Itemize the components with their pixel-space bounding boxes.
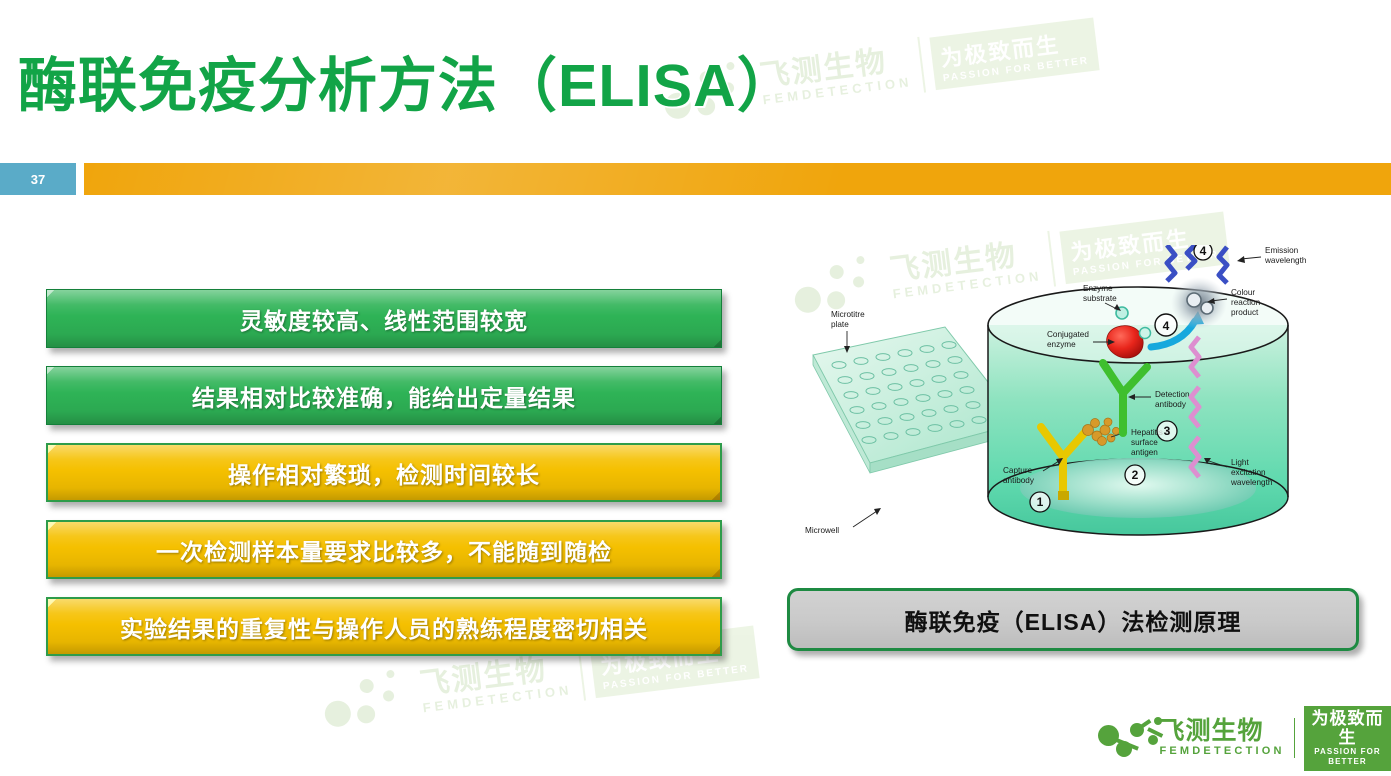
- watermark-tagline: 为极致而生 PASSION FOR BETTER: [929, 17, 1099, 90]
- label-light-excitation: Light: [1231, 458, 1249, 467]
- feature-box-4[interactable]: 一次检测样本量要求比较多，不能随到随检: [46, 520, 722, 579]
- feature-box-1[interactable]: 灵敏度较高、线性范围较宽: [46, 289, 722, 348]
- feature-label: 灵敏度较高、线性范围较宽: [240, 302, 528, 336]
- step-number-1: 1: [1037, 495, 1044, 509]
- watermark-divider: [917, 37, 926, 93]
- label-detection-antibody: Detection: [1155, 390, 1190, 399]
- label-microwell: Microwell: [805, 526, 839, 535]
- feature-label: 结果相对比较准确，能给出定量结果: [192, 379, 576, 413]
- page-number-badge: 37: [0, 163, 76, 195]
- footer-brand: 飞测生物 FEMDETECTION: [1159, 719, 1284, 758]
- label-microtitre-plate: Microtitre: [831, 310, 865, 319]
- label-colour-reaction-product: Colour: [1231, 288, 1255, 297]
- capture-antibody-base: [1058, 491, 1069, 500]
- svg-text:plate: plate: [831, 320, 849, 329]
- feature-box-3[interactable]: 操作相对繁琐，检测时间较长: [46, 443, 722, 502]
- label-emission-wavelength: Emission: [1265, 246, 1299, 255]
- feature-label: 操作相对繁琐，检测时间较长: [228, 456, 540, 490]
- label-enzyme-substrate: Enzyme: [1083, 284, 1113, 293]
- watermark-tagline-cn: 为极致而生: [938, 23, 1088, 73]
- feature-list: 灵敏度较高、线性范围较宽 结果相对比较准确，能给出定量结果 操作相对繁琐，检测时…: [46, 289, 722, 674]
- svg-text:wavelength: wavelength: [1264, 256, 1307, 265]
- footer-tagline-cn: 为极致而生: [1311, 710, 1384, 747]
- svg-text:product: product: [1231, 308, 1259, 317]
- molecule-icon: [1098, 715, 1150, 761]
- header-accent-bar: [84, 163, 1391, 195]
- watermark-brand-en: FEMDETECTION: [422, 683, 573, 715]
- molecule-icon: [318, 666, 414, 733]
- page-title: 酶联免疫分析方法（ELISA）: [18, 38, 797, 123]
- step-number-4: 4: [1163, 319, 1170, 333]
- step-number-3: 3: [1164, 424, 1171, 438]
- svg-text:enzyme: enzyme: [1047, 340, 1076, 349]
- colour-reaction-product-graphic: [1171, 277, 1227, 329]
- step-number-4-top: 4: [1200, 245, 1207, 258]
- label-capture-antibody: Capture: [1003, 466, 1033, 475]
- feature-box-2[interactable]: 结果相对比较准确，能给出定量结果: [46, 366, 722, 425]
- diagram-caption-box[interactable]: 酶联免疫（ELISA）法检测原理: [787, 588, 1359, 651]
- footer-brand-en: FEMDETECTION: [1159, 744, 1284, 758]
- elisa-diagram: Microtitre plate Microwell Capt: [795, 245, 1355, 555]
- footer-divider: [1294, 718, 1295, 758]
- svg-text:excitation: excitation: [1231, 468, 1266, 477]
- svg-text:wavelength: wavelength: [1230, 478, 1273, 487]
- watermark-tagline-en: PASSION FOR BETTER: [942, 55, 1089, 84]
- svg-text:reaction: reaction: [1231, 298, 1261, 307]
- feature-label: 实验结果的重复性与操作人员的熟练程度密切相关: [120, 610, 648, 644]
- svg-text:antibody: antibody: [1003, 476, 1035, 485]
- footer-tagline: 为极致而生 PASSION FOR BETTER: [1304, 706, 1391, 771]
- feature-box-5[interactable]: 实验结果的重复性与操作人员的熟练程度密切相关: [46, 597, 722, 656]
- footer-tagline-en: PASSION FOR BETTER: [1311, 747, 1384, 766]
- svg-text:substrate: substrate: [1083, 294, 1117, 303]
- svg-text:antigen: antigen: [1131, 448, 1158, 457]
- slide-canvas: 飞测生物 FEMDETECTION 为极致而生 PASSION FOR BETT…: [0, 0, 1391, 776]
- footer-logo: 飞测生物 FEMDETECTION 为极致而生 PASSION FOR BETT…: [1098, 706, 1391, 771]
- svg-text:surface: surface: [1131, 438, 1158, 447]
- svg-text:antibody: antibody: [1155, 400, 1187, 409]
- label-conjugated-enzyme: Conjugated: [1047, 330, 1089, 339]
- step-number-2: 2: [1132, 468, 1139, 482]
- feature-label: 一次检测样本量要求比较多，不能随到随检: [156, 533, 612, 567]
- footer-brand-cn: 飞测生物: [1159, 719, 1284, 744]
- diagram-caption-text: 酶联免疫（ELISA）法检测原理: [905, 603, 1242, 637]
